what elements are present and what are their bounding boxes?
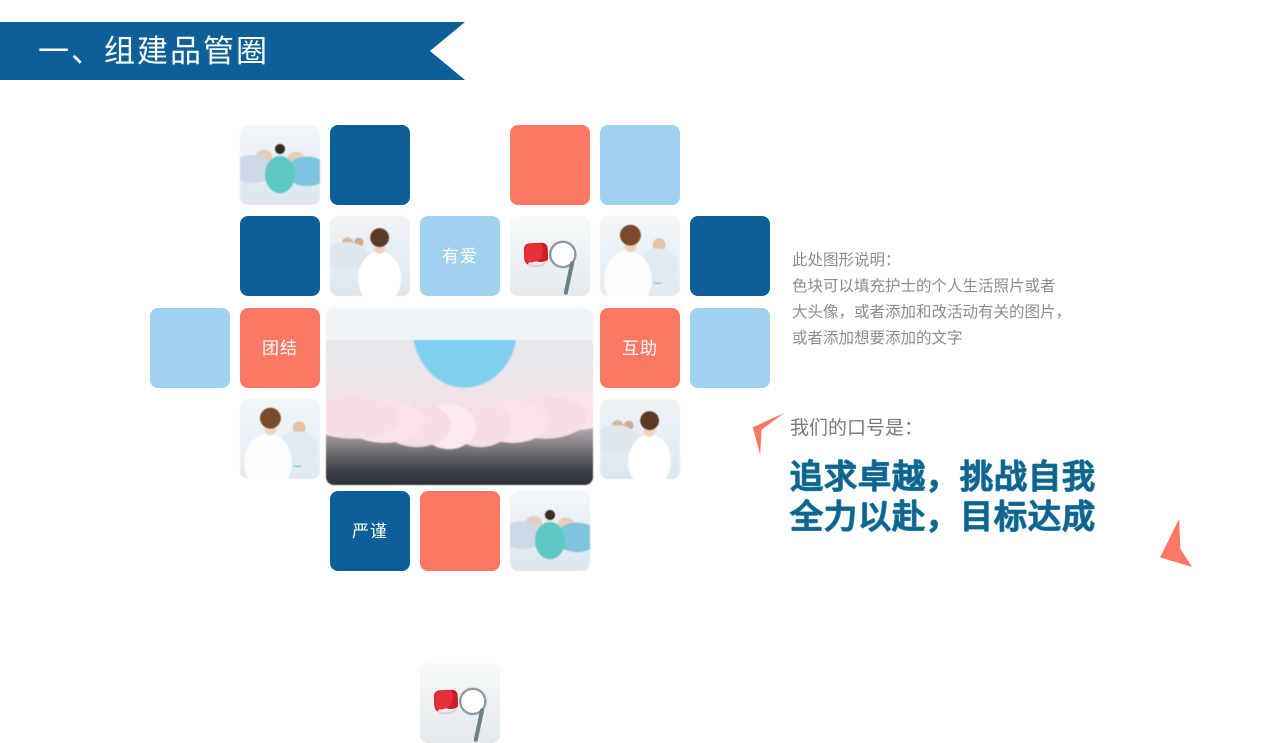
mosaic-tile-photo-doctor-row[interactable] [330, 216, 410, 296]
mosaic-tile-color-blue[interactable] [690, 216, 770, 296]
description-line: 或者添加想要添加的文字 [792, 326, 1192, 352]
slogan-lines: 追求卓越，挑战自我 全力以赴，目标达成 [790, 457, 1096, 537]
mosaic-tile-photo-heart-stethoscope[interactable] [510, 216, 590, 296]
slogan-block: 我们的口号是： 追求卓越，挑战自我 全力以赴，目标达成 [740, 405, 1200, 575]
mosaic-tile-photo-doctor-tablet[interactable] [240, 399, 320, 479]
tile-label: 严谨 [352, 523, 388, 540]
mosaic-tile-color-lightblue[interactable] [600, 125, 680, 205]
mosaic-tile-photo-doctor-row[interactable] [600, 399, 680, 479]
slogan-line: 全力以赴，目标达成 [790, 497, 1096, 537]
mosaic-tile-value-huzhu[interactable]: 互助 [600, 308, 680, 388]
center-team-photo[interactable] [326, 308, 593, 485]
description-line: 大头像，或者添加和改活动有关的图片， [792, 300, 1192, 326]
mosaic-tile-color-lightblue[interactable] [150, 308, 230, 388]
photo-mosaic: 有爱 团结 互助 严谨 [0, 0, 800, 720]
mosaic-tile-photo-nurse[interactable] [510, 491, 590, 571]
tile-label: 团结 [262, 340, 298, 357]
tile-label: 有爱 [442, 248, 478, 265]
mosaic-tile-photo-doctor-tablet[interactable] [600, 216, 680, 296]
mosaic-tile-color-blue[interactable] [330, 125, 410, 205]
mosaic-tile-color-blue[interactable] [240, 216, 320, 296]
slogan-line: 追求卓越，挑战自我 [790, 457, 1096, 497]
description-line: 此处图形说明： [792, 248, 1192, 274]
slogan-lead-text: 我们的口号是： [790, 419, 923, 438]
mosaic-tile-color-coral[interactable] [510, 125, 590, 205]
quote-open-icon [750, 413, 784, 455]
slide-canvas: 一、组建品管圈 有爱 团结 [0, 0, 1280, 720]
description-line: 色块可以填充护士的个人生活照片或者 [792, 274, 1192, 300]
mosaic-tile-photo-nurse[interactable] [240, 125, 320, 205]
mosaic-tile-photo-heart-stethoscope[interactable] [420, 663, 500, 743]
mosaic-tile-value-youai[interactable]: 有爱 [420, 216, 500, 296]
description-block: 此处图形说明： 色块可以填充护士的个人生活照片或者 大头像，或者添加和改活动有关… [792, 248, 1192, 352]
mosaic-tile-color-coral[interactable] [420, 491, 500, 571]
mosaic-tile-color-lightblue[interactable] [690, 308, 770, 388]
mosaic-tile-value-tuanjie[interactable]: 团结 [240, 308, 320, 388]
quote-close-icon [1158, 519, 1192, 567]
tile-label: 互助 [622, 340, 658, 357]
mosaic-tile-value-yanjin[interactable]: 严谨 [330, 491, 410, 571]
